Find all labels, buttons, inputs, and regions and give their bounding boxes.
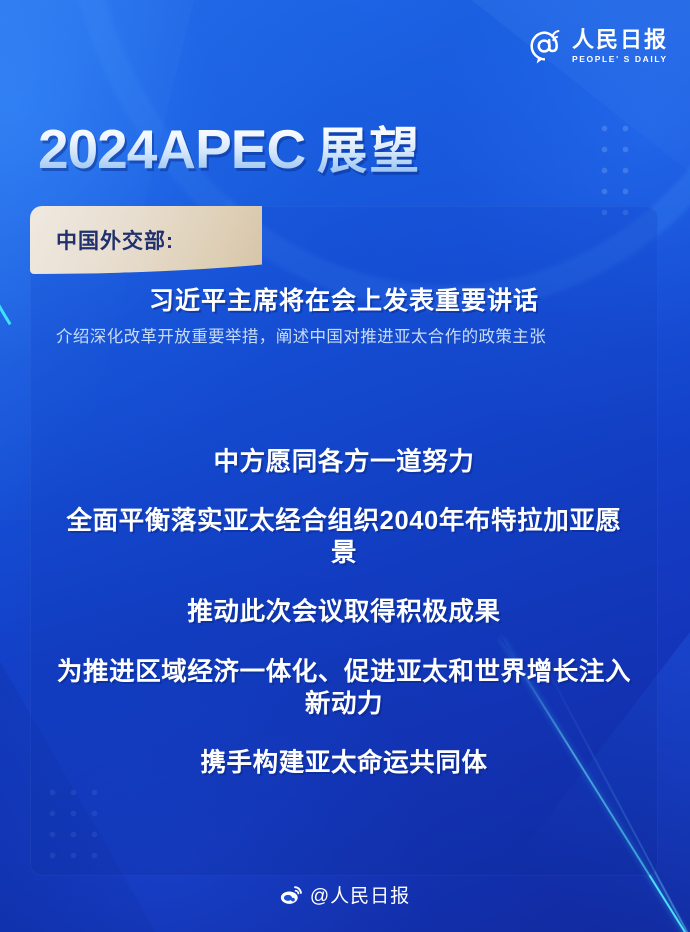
list-item: 为推进区域经济一体化、促进亚太和世界增长注入新动力 (54, 656, 634, 720)
list-item: 携手构建亚太命运共同体 (54, 747, 634, 779)
brand-logo-text: 人民日报 PEOPLE' S DAILY (572, 29, 668, 64)
footer: @人民日报 (0, 881, 690, 908)
headline: 习近平主席将在会上发表重要讲话 (30, 281, 658, 317)
brand-name-en: PEOPLE' S DAILY (572, 55, 668, 64)
page-title-suffix: 展望 (317, 123, 421, 179)
source-tab: 中国外交部: (30, 206, 262, 274)
weibo-icon (280, 885, 303, 905)
page-title: 2024APEC展望 (38, 122, 421, 177)
page-title-main: 2024APEC (38, 118, 305, 180)
brand-name-cn: 人民日报 (572, 29, 668, 51)
brand-logo: 人民日报 PEOPLE' S DAILY (525, 26, 668, 66)
key-points-list: 中方愿同各方一道努力 全面平衡落实亚太经合组织2040年布特拉加亚愿景 推动此次… (54, 446, 634, 779)
list-item: 全面平衡落实亚太经合组织2040年布特拉加亚愿景 (54, 505, 634, 569)
source-tab-label: 中国外交部: (56, 225, 174, 255)
poster-canvas: 人民日报 PEOPLE' S DAILY 2024APEC展望 中国外交部: 习… (0, 0, 690, 932)
content-panel: 中国外交部: 习近平主席将在会上发表重要讲话 介绍深化改革开放重要举措，阐述中国… (30, 206, 658, 876)
list-item: 中方愿同各方一道努力 (54, 446, 634, 478)
at-speech-bubble-icon (525, 26, 565, 66)
footer-handle: @人民日报 (310, 881, 410, 908)
lead-paragraph: 介绍深化改革开放重要举措，阐述中国对推进亚太合作的政策主张 (56, 324, 632, 351)
list-item: 推动此次会议取得积极成果 (54, 596, 634, 628)
